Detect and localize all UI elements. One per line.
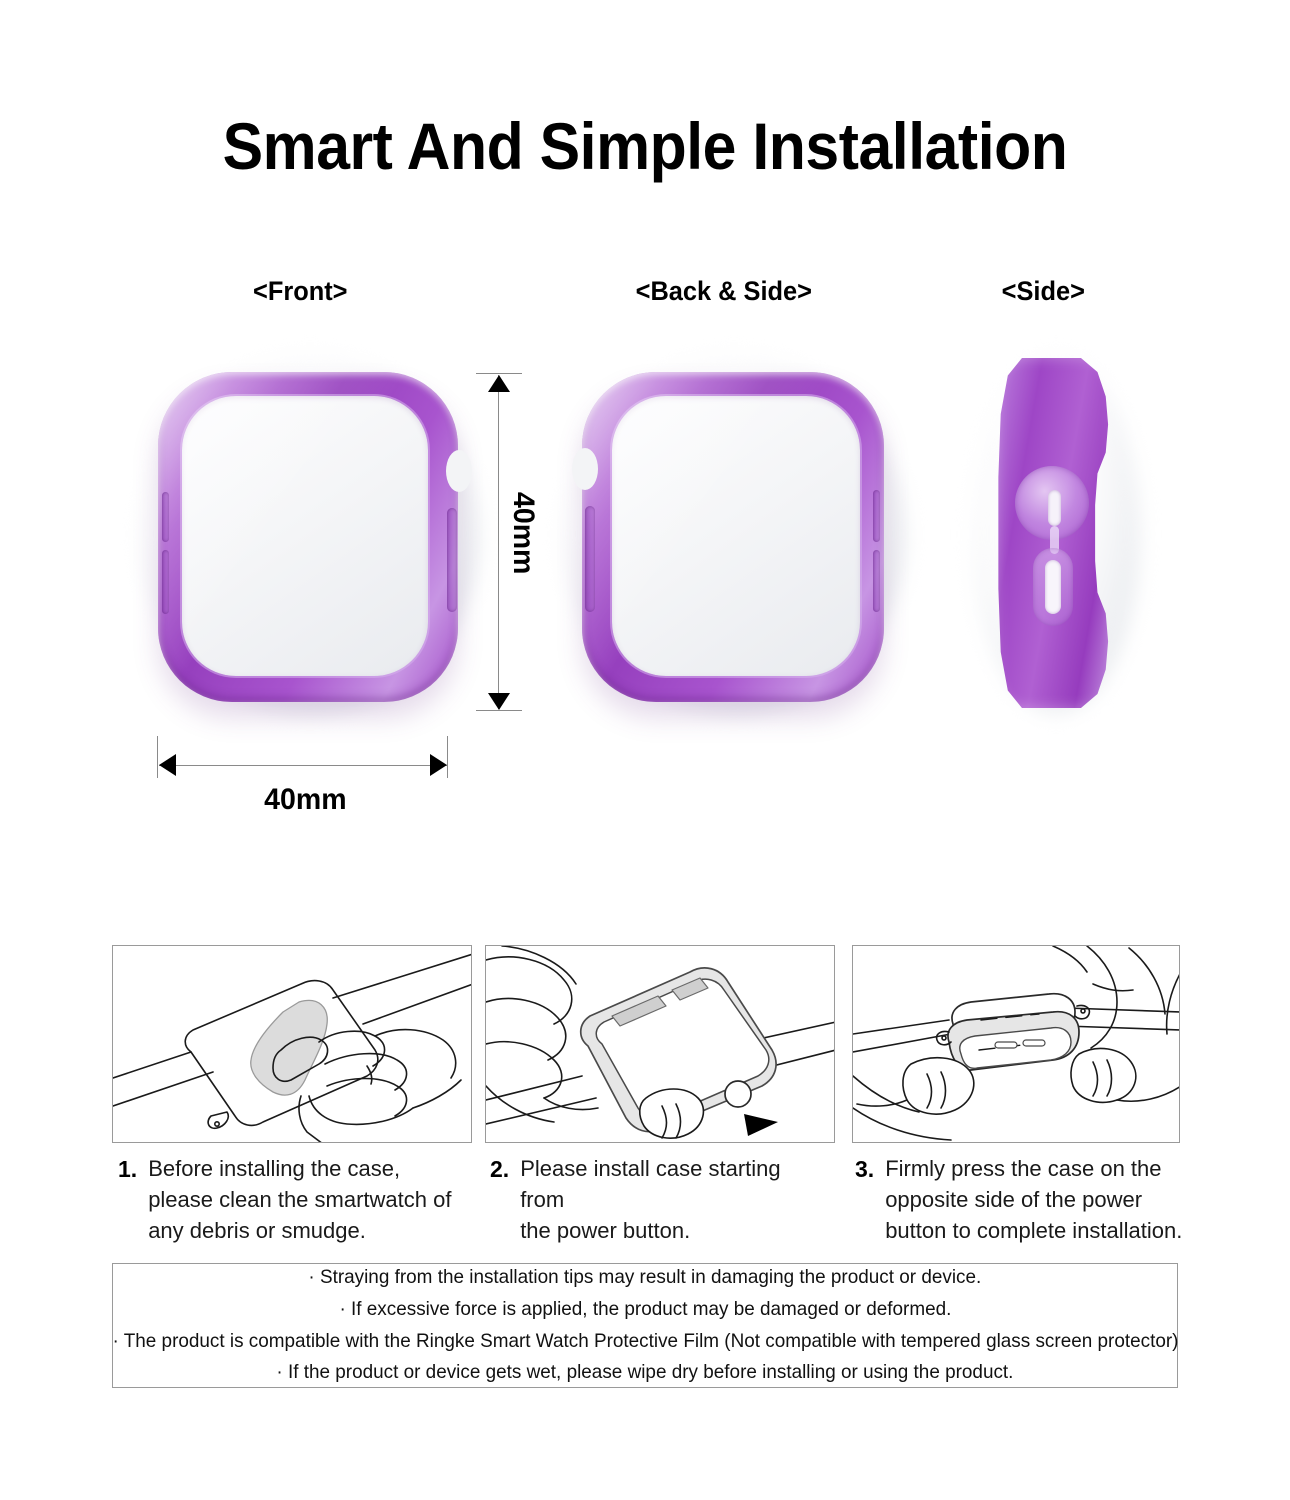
disclaimer-line-1: · Straying from the installation tips ma… — [309, 1263, 982, 1293]
step-1: 1. Before installing the case, please cl… — [118, 1153, 463, 1247]
view-label-front: <Front> — [253, 276, 347, 307]
step-2-text: Please install case starting from the po… — [520, 1153, 830, 1247]
speaker-slot-upper — [162, 492, 169, 542]
instruction-illustration-1 — [112, 945, 472, 1143]
case-opening — [182, 396, 428, 676]
step-3: 3. Firmly press the case on the opposite… — [855, 1153, 1185, 1247]
page-title: Smart And Simple Installation — [52, 108, 1239, 184]
crown-notch — [572, 448, 598, 490]
dim-cap-right — [447, 736, 448, 778]
dim-cap-left — [157, 736, 158, 778]
watch-case-front-view — [158, 372, 458, 702]
disclaimer-line-2: · If excessive force is applied, the pro… — [339, 1295, 951, 1325]
power-button-cutout — [447, 508, 457, 612]
power-button-slot — [1045, 560, 1061, 614]
dim-line-horizontal — [159, 765, 447, 766]
dim-cap-top — [476, 373, 522, 374]
dim-line-vertical — [498, 375, 499, 709]
instruction-illustration-2 — [485, 945, 835, 1143]
step-1-number: 1. — [118, 1153, 137, 1186]
disclaimer-line-3: · The product is compatible with the Rin… — [112, 1327, 1178, 1357]
step-3-text: Firmly press the case on the opposite si… — [885, 1153, 1182, 1247]
dim-arrow-down — [488, 693, 510, 710]
disclaimer-box: · Straying from the installation tips ma… — [112, 1263, 1178, 1388]
dim-arrow-right — [430, 754, 447, 776]
dim-arrow-up — [488, 375, 510, 392]
speaker-slot-lower — [162, 550, 169, 614]
dim-arrow-left — [159, 754, 176, 776]
step-2: 2. Please install case starting from the… — [490, 1153, 830, 1247]
crown-slot — [1048, 490, 1061, 526]
step-2-number: 2. — [490, 1153, 509, 1186]
speaker-slot-lower — [873, 550, 880, 612]
step-3-number: 3. — [855, 1153, 874, 1186]
dim-cap-bottom — [476, 710, 522, 711]
instruction-illustration-3 — [852, 945, 1180, 1143]
speaker-slot-upper — [873, 490, 880, 542]
case-opening — [612, 396, 860, 676]
product-photo-stage: 40mm 40mm — [0, 340, 1290, 760]
view-label-side: <Side> — [1002, 276, 1085, 307]
dimension-width-label: 40mm — [264, 783, 346, 817]
watch-case-side-view — [996, 358, 1114, 708]
watch-case-back-view — [582, 372, 884, 702]
step-1-text: Before installing the case, please clean… — [148, 1153, 451, 1247]
crown-notch — [446, 450, 472, 492]
power-button-cutout — [585, 506, 595, 612]
dimension-height-label: 40mm — [506, 492, 540, 574]
view-label-back-side: <Back & Side> — [636, 276, 812, 307]
disclaimer-line-4: · If the product or device gets wet, ple… — [276, 1358, 1013, 1388]
